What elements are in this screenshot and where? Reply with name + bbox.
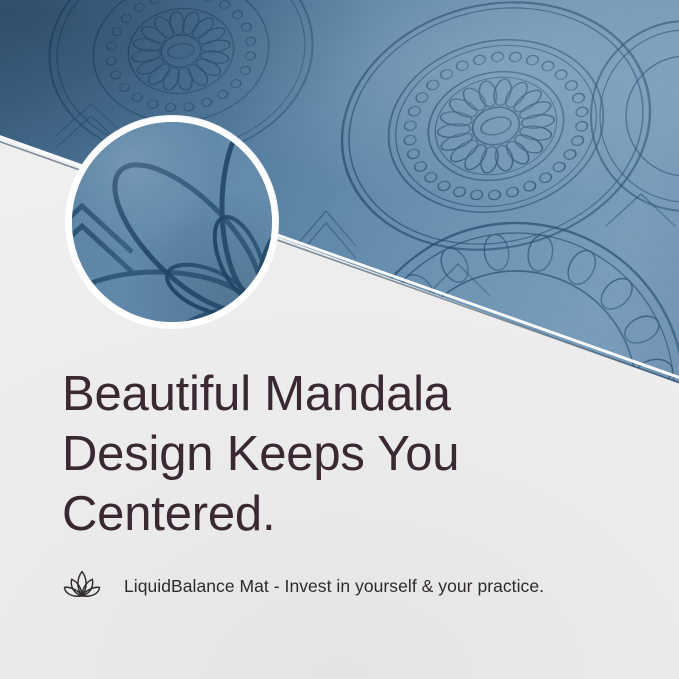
lotus-icon xyxy=(62,568,102,604)
tagline-text: LiquidBalance Mat - Invest in yourself &… xyxy=(124,576,544,597)
magnified-mandala-content xyxy=(66,116,278,328)
promo-image-canvas: Beautiful Mandala Design Keeps You Cente… xyxy=(0,0,679,679)
brand-tagline-row: LiquidBalance Mat - Invest in yourself &… xyxy=(62,568,544,604)
magnified-detail-inset xyxy=(66,116,278,328)
page-title: Beautiful Mandala Design Keeps You Cente… xyxy=(62,364,622,544)
